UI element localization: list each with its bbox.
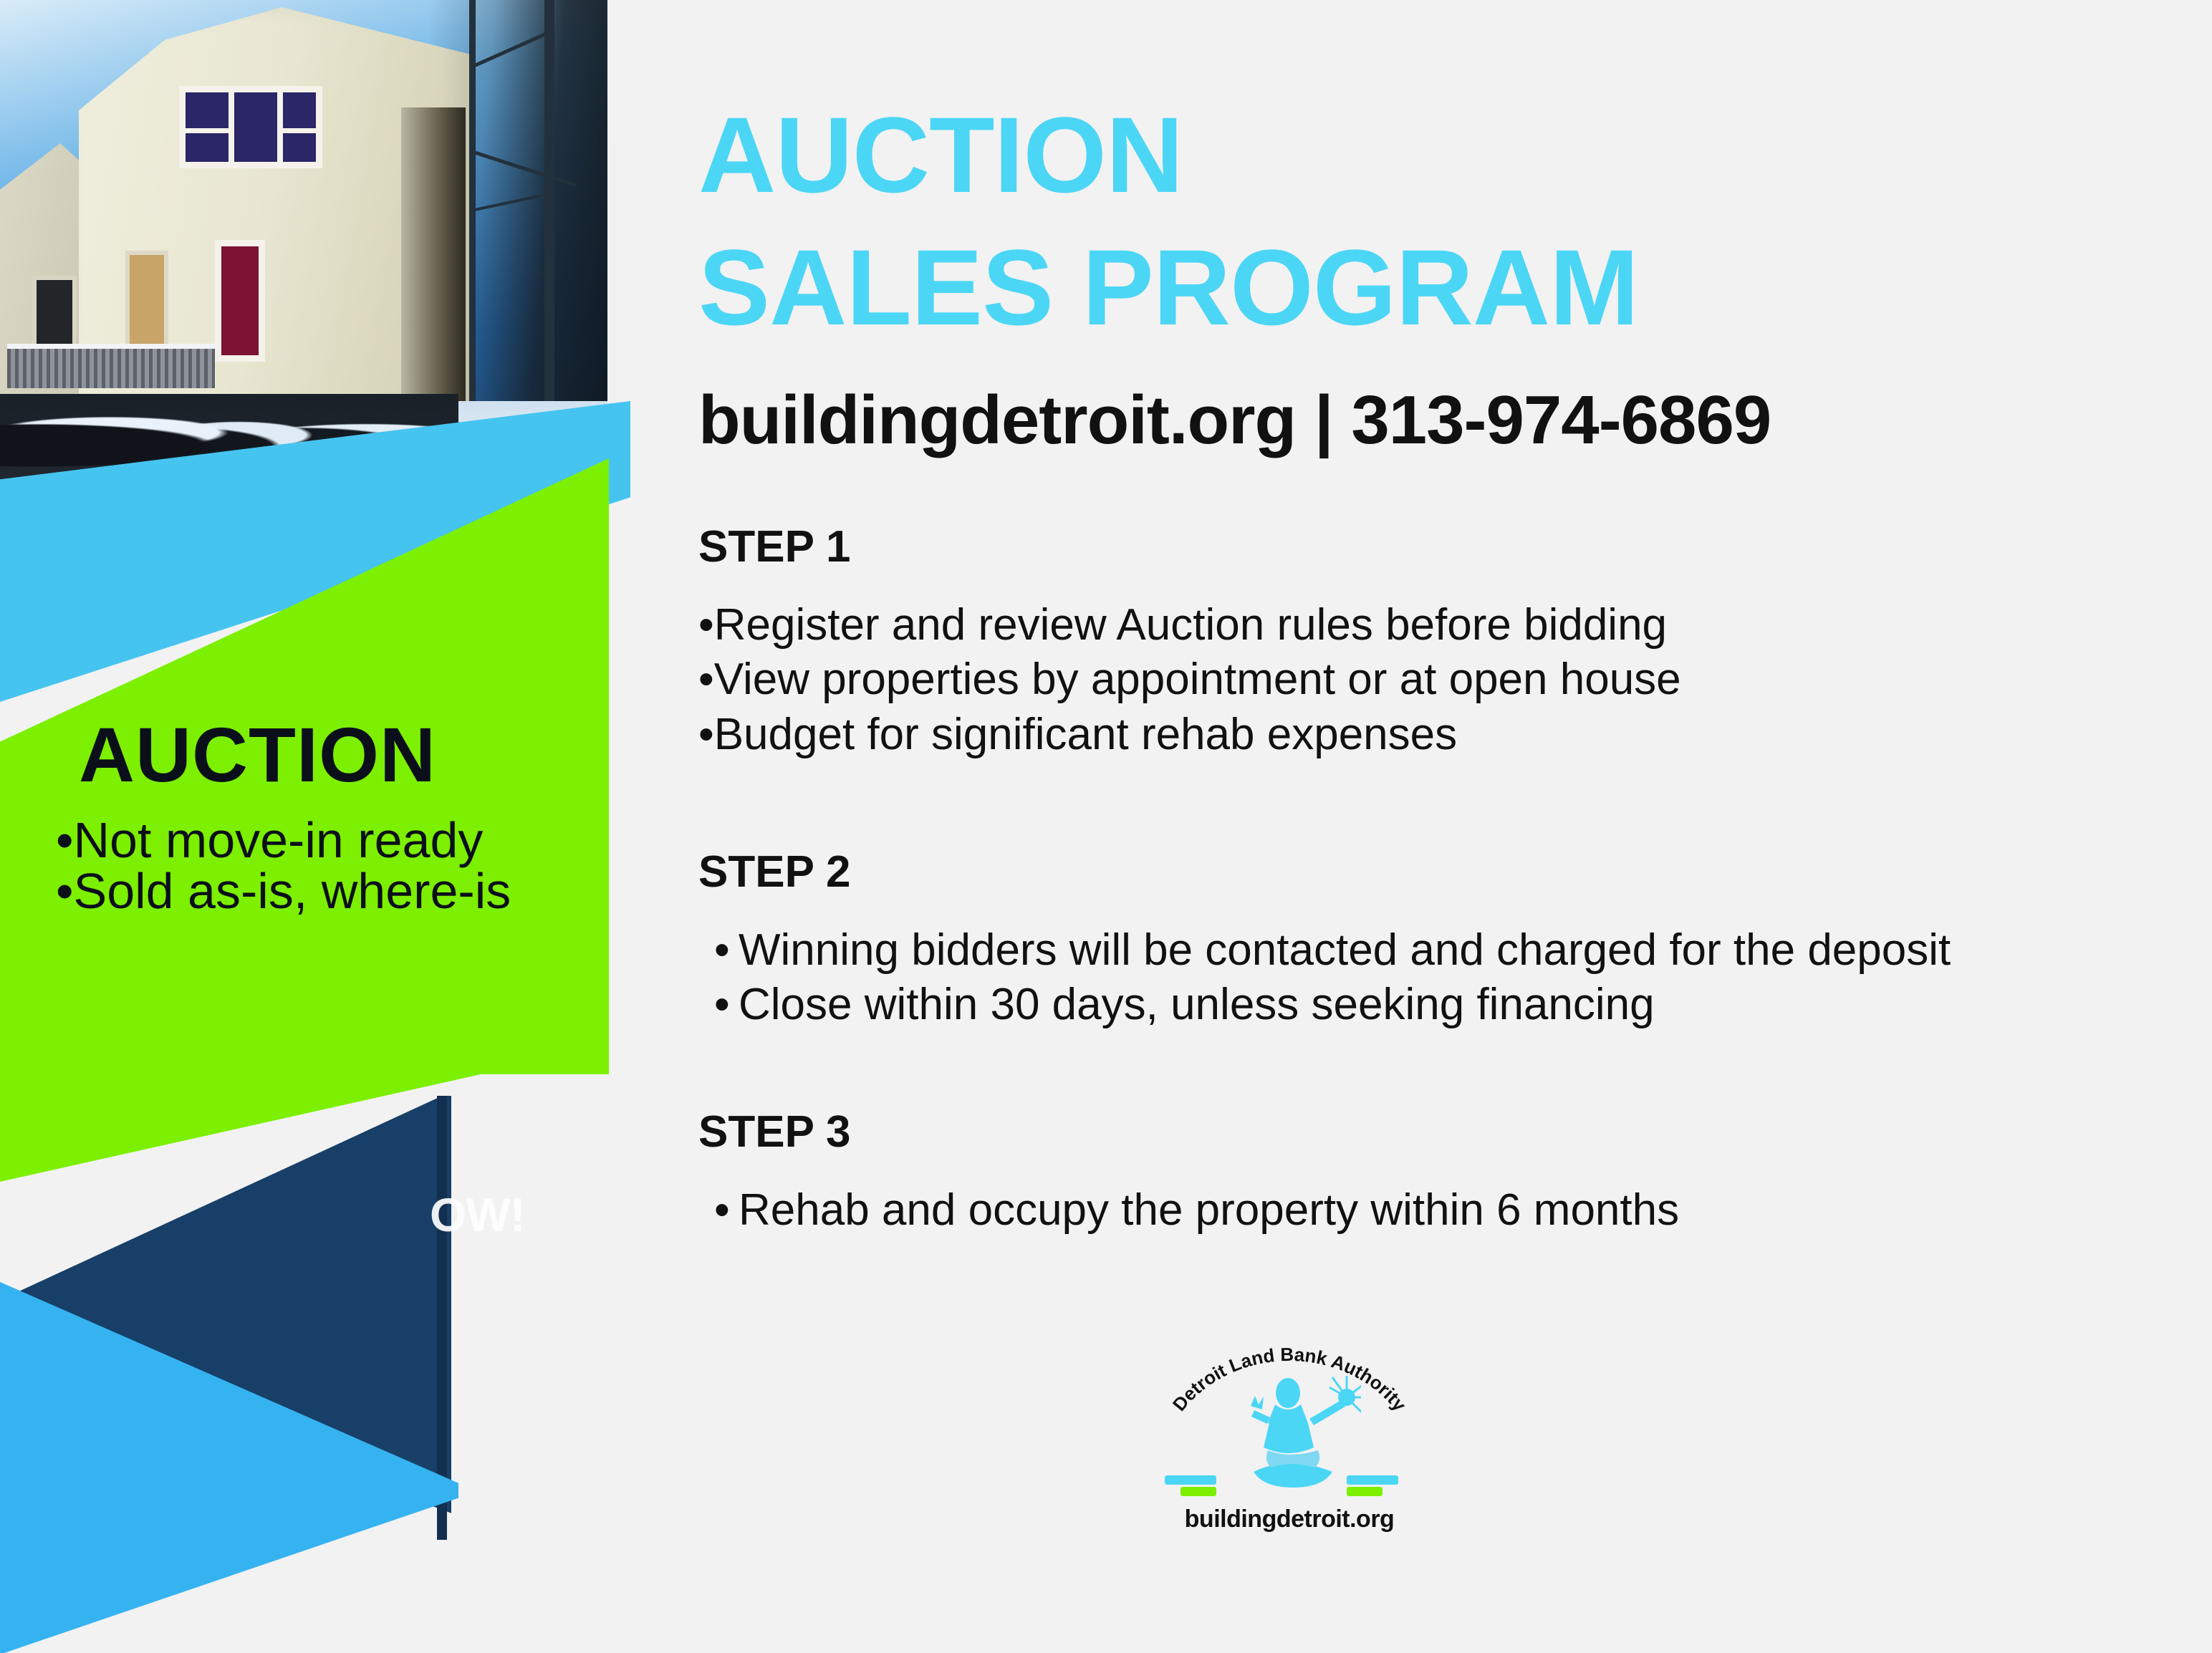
step-3-title: STEP 3 xyxy=(698,1107,2160,1157)
step-1-item-2: •View properties by appointment or at op… xyxy=(698,652,2160,707)
photo-boarded-opening xyxy=(125,251,168,355)
photo-dark-door xyxy=(32,276,77,355)
step-2-item-2: •Close within 30 days, unless seeking fi… xyxy=(698,978,2160,1032)
step-2-item-2-text: Close within 30 days, unless seeking fin… xyxy=(739,980,1655,1029)
green-panel-bullet-2: •Sold as-is, where-is xyxy=(56,866,587,917)
photo-upper-window xyxy=(179,86,322,168)
photo-fence xyxy=(7,344,215,388)
logo-bar-right-green xyxy=(1347,1487,1382,1496)
partial-overlay-text: OW! xyxy=(430,1187,525,1242)
step-3-block: STEP 3 •Rehab and occupy the property wi… xyxy=(698,1107,2160,1238)
auction-sales-program-flyer: AUCTION •Not move-in ready •Sold as-is, … xyxy=(0,0,2212,1653)
logo-bar-left-cyan xyxy=(1165,1475,1216,1485)
logo-bar-right-cyan xyxy=(1347,1475,1398,1485)
page-title-line1: AUCTION xyxy=(698,0,2160,210)
green-panel-text-block: AUCTION •Not move-in ready •Sold as-is, … xyxy=(43,716,587,917)
bullet-glyph: • xyxy=(714,1183,739,1238)
step-3-list: •Rehab and occupy the property within 6 … xyxy=(698,1183,2160,1238)
step-1-list: •Register and review Auction rules befor… xyxy=(698,598,2160,762)
bullet-glyph: • xyxy=(714,978,739,1032)
step-2-list: •Winning bidders will be contacted and c… xyxy=(698,923,2160,1033)
bullet-glyph: • xyxy=(714,923,739,978)
step-1-block: STEP 1 •Register and review Auction rule… xyxy=(698,521,2160,762)
green-panel-bullet-1: •Not move-in ready xyxy=(56,815,587,866)
tree-branch xyxy=(473,150,576,187)
navy-edge-strip xyxy=(437,1096,447,1540)
contact-line: buildingdetroit.org | 313-974-6869 xyxy=(698,381,2160,460)
green-lower-shape xyxy=(0,1003,609,1182)
step-2-item-1-text: Winning bidders will be contacted and ch… xyxy=(739,925,1951,975)
step-1-item-3: •Budget for significant rehab expenses xyxy=(698,708,2160,762)
spirit-of-detroit-icon xyxy=(1225,1372,1361,1493)
logo-bar-left-green xyxy=(1180,1487,1216,1496)
step-2-title: STEP 2 xyxy=(698,847,2160,897)
logo-url-label: buildingdetroit.org xyxy=(1139,1505,1440,1533)
step-2-item-1: •Winning bidders will be contacted and c… xyxy=(698,923,2160,978)
tree-branch xyxy=(473,29,553,67)
left-graphic-column: AUCTION •Not move-in ready •Sold as-is, … xyxy=(0,0,630,1653)
photo-red-door xyxy=(215,240,265,362)
step-1-item-1: •Register and review Auction rules befor… xyxy=(698,598,2160,652)
step-2-block: STEP 2 •Winning bidders will be contacte… xyxy=(698,847,2160,1033)
step-3-item-1-text: Rehab and occupy the property within 6 m… xyxy=(739,1185,1679,1235)
step-3-item-1: •Rehab and occupy the property within 6 … xyxy=(698,1183,2160,1238)
detroit-land-bank-authority-logo: Detroit Land Bank Authority xyxy=(1139,1332,1440,1547)
step-1-title: STEP 1 xyxy=(698,521,2160,572)
green-panel-heading: AUCTION xyxy=(79,716,587,794)
page-title-line2: SALES PROGRAM xyxy=(698,210,2160,342)
